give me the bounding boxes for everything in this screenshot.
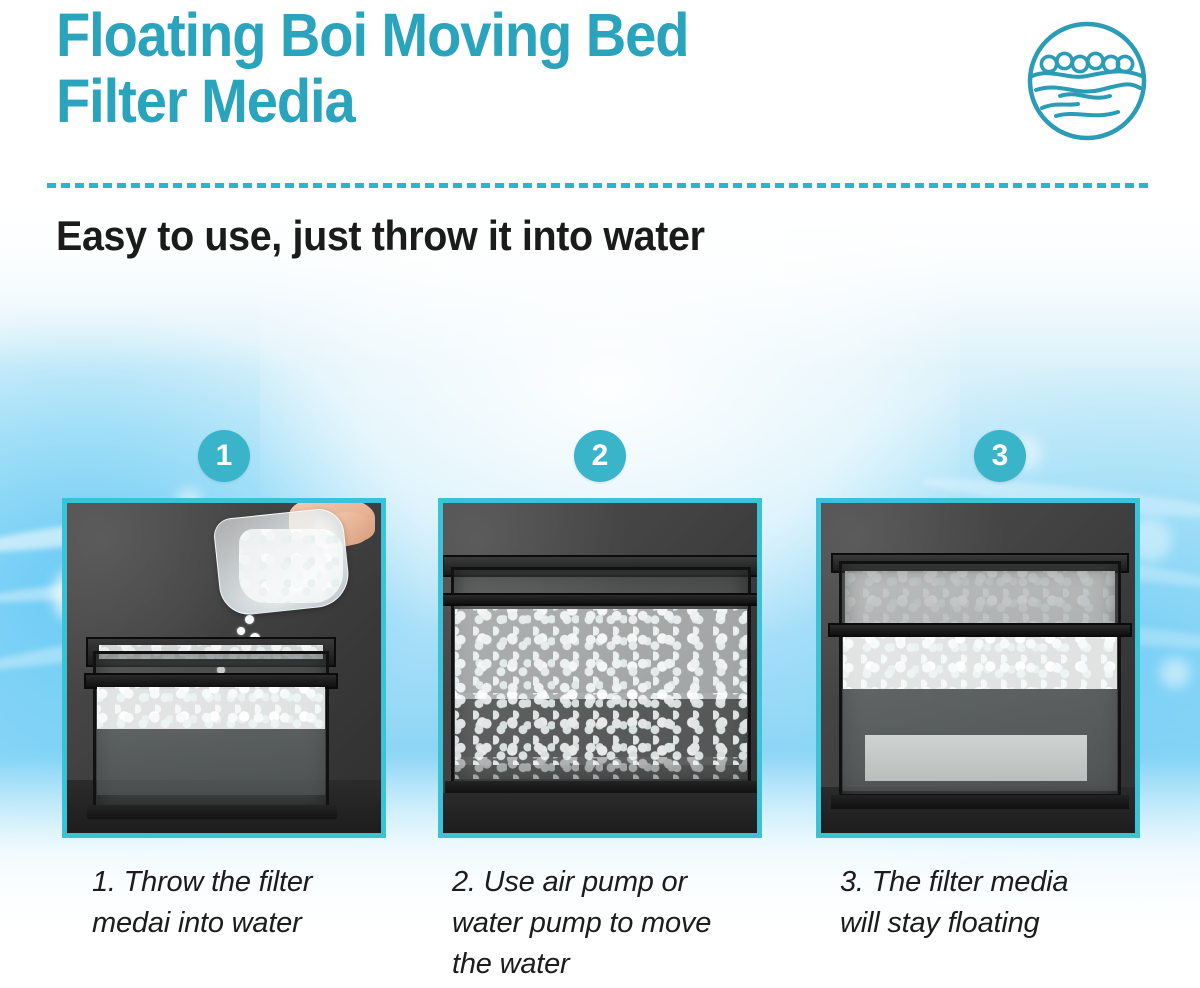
step-badge-1: 1	[198, 430, 250, 482]
header: Floating Boi Moving Bed Filter Media	[0, 0, 1200, 190]
step-badge-2: 2	[574, 430, 626, 482]
tank-base	[445, 781, 757, 793]
glass-tank	[93, 651, 329, 809]
floating-media-layer	[843, 637, 1117, 689]
tank-rim	[828, 623, 1133, 637]
step-caption-1: 1. Throw the filter medai into water	[92, 862, 392, 944]
tank-base	[87, 805, 337, 819]
bag-media-pellets	[239, 529, 343, 603]
glass-tank	[839, 561, 1121, 797]
step-caption-3: 3. The filter media will stay floating	[840, 862, 1150, 944]
tank-rim	[439, 593, 762, 606]
falling-pellet	[237, 627, 245, 635]
step-photo-1	[62, 498, 386, 838]
floating-media-water-circle-logo-icon	[1022, 16, 1152, 146]
dashed-divider	[47, 183, 1153, 188]
step-caption-2: 2. Use air pump or water pump to move th…	[452, 862, 772, 985]
tank-inner-floor	[865, 735, 1087, 781]
floating-media-layer	[97, 687, 325, 729]
glass-tank	[451, 567, 751, 785]
page-subtitle: Easy to use, just throw it into water	[56, 212, 705, 260]
infographic-page: Floating Boi Moving Bed Filter Media	[0, 0, 1200, 988]
falling-pellet	[245, 615, 254, 624]
photo-background	[821, 503, 1135, 833]
circulating-media	[455, 609, 747, 699]
circulating-media	[455, 693, 747, 765]
photo-floor	[443, 793, 757, 833]
tank-base	[831, 795, 1129, 809]
photo-background	[67, 503, 381, 833]
step-badge-3: 3	[974, 430, 1026, 482]
tank-water	[97, 729, 325, 795]
photo-background	[443, 503, 757, 833]
page-title: Floating Boi Moving Bed Filter Media	[56, 2, 912, 134]
circulating-media	[455, 757, 747, 779]
step-photo-2	[438, 498, 762, 838]
step-photo-3	[816, 498, 1140, 838]
